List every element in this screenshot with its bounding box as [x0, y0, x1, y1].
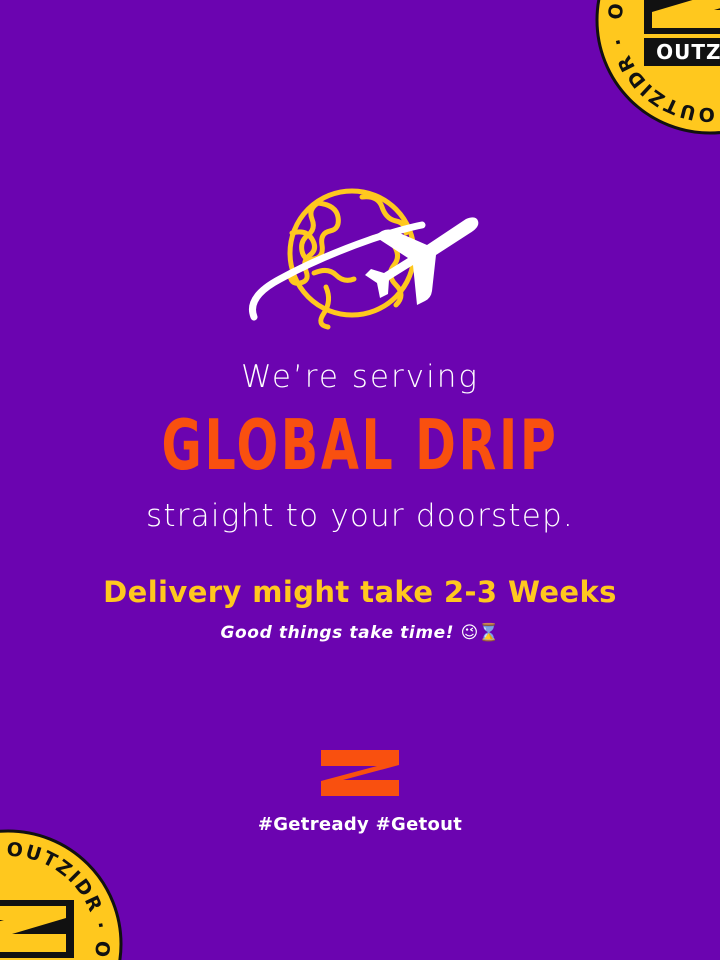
badge-wordmark: OUTZIDR [656, 40, 720, 64]
outzidr-sticker-top-right: OUTZIDR · OUTZIDR · OUTZIDR · OUTZIDR · … [594, 0, 720, 136]
globe-icon [290, 191, 414, 327]
badge-center-mark: OUTZIDR [0, 900, 74, 960]
globe-airplane-icon [240, 175, 480, 345]
tagline-emoji: 😉⌛ [461, 623, 500, 643]
copy-block: We’re serving GLOBAL DRIP straight to yo… [0, 362, 720, 642]
tagline-text: Good things take time! [220, 623, 454, 643]
z-logo-icon [319, 748, 401, 798]
outzidr-badge-icon: OUTZIDR · OUTZIDR · OUTZIDR · OUTZIDR · … [0, 828, 124, 960]
footer-brand: #Getready #Getout [0, 748, 720, 835]
page-title: GLOBAL DRIP [43, 411, 677, 480]
badge-center-mark: OUTZIDR [644, 0, 720, 66]
airplane-icon [365, 217, 478, 305]
eyebrow-text: We’re serving [0, 362, 720, 393]
tagline: Good things take time! 😉⌛ [0, 625, 720, 642]
delivery-note: Delivery might take 2-3 Weeks [0, 578, 720, 607]
subhead-text: straight to your doorstep. [0, 501, 720, 532]
outzidr-badge-icon: OUTZIDR · OUTZIDR · OUTZIDR · OUTZIDR · … [594, 0, 720, 136]
hero-graphic [0, 170, 720, 350]
promo-poster: We’re serving GLOBAL DRIP straight to yo… [0, 0, 720, 960]
outzidr-sticker-bottom-left: OUTZIDR · OUTZIDR · OUTZIDR · OUTZIDR · … [0, 828, 124, 960]
